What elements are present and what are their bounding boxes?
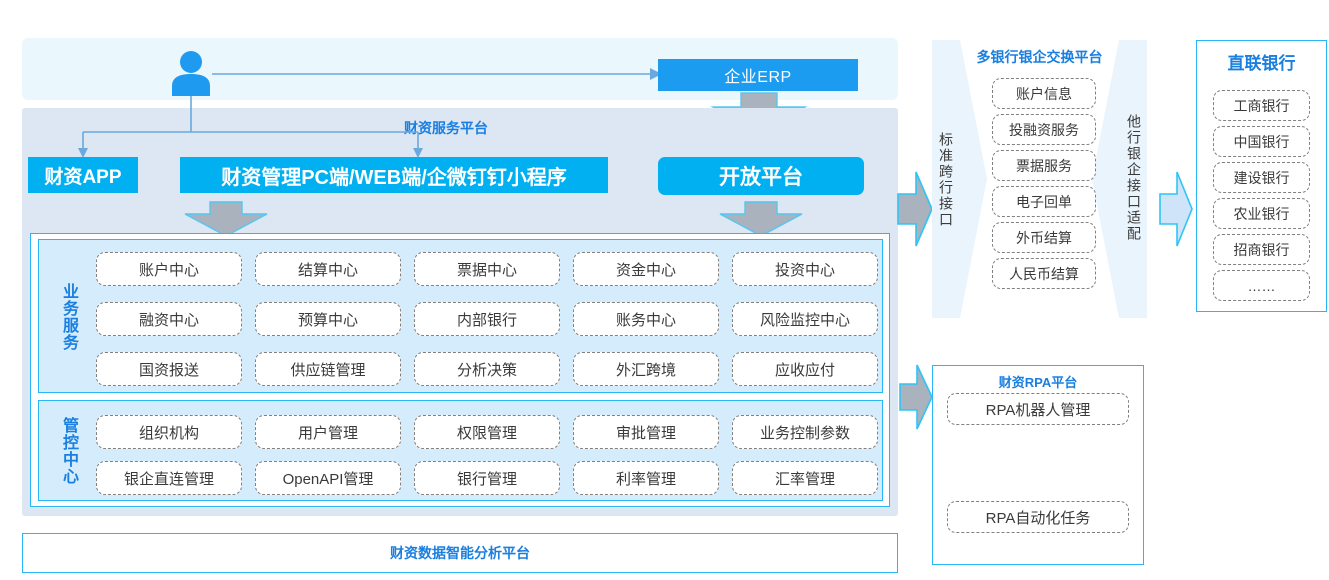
service-cell[interactable]: 国资报送 [96, 352, 242, 386]
user-icon [170, 50, 212, 96]
arrow-down-icon [185, 202, 267, 236]
treasury-pc-web-button[interactable]: 财资管理PC端/WEB端/企微钉钉小程序 [180, 157, 608, 193]
control-cell[interactable]: OpenAPI管理 [255, 461, 401, 495]
control-cell[interactable]: 组织机构 [96, 415, 242, 449]
service-cell[interactable]: 内部银行 [414, 302, 560, 336]
rpa-platform-title: 财资RPA平台 [932, 372, 1144, 391]
control-cell[interactable]: 审批管理 [573, 415, 719, 449]
bank-service-cell[interactable]: 外币结算 [992, 222, 1096, 253]
control-cell[interactable]: 利率管理 [573, 461, 719, 495]
bank-cell[interactable]: 农业银行 [1213, 198, 1310, 229]
service-cell[interactable]: 资金中心 [573, 252, 719, 286]
erp-label: 企业ERP [724, 63, 791, 87]
direct-banks-items: 工商银行 中国银行 建设银行 农业银行 招商银行 …… [1213, 90, 1310, 301]
control-cell[interactable]: 银企直连管理 [96, 461, 242, 495]
service-cell[interactable]: 账务中心 [573, 302, 719, 336]
control-cell[interactable]: 业务控制参数 [732, 415, 878, 449]
treasury-app-label: 财资APP [44, 162, 121, 189]
bank-cell[interactable]: 中国银行 [1213, 126, 1310, 157]
service-cell[interactable]: 供应链管理 [255, 352, 401, 386]
bank-service-cell[interactable]: 账户信息 [992, 78, 1096, 109]
business-services-grid: 账户中心 结算中心 票据中心 资金中心 投资中心 融资中心 预算中心 内部银行 … [96, 252, 878, 382]
arrow-right-icon [1160, 172, 1192, 246]
erp-box[interactable]: 企业ERP [658, 59, 858, 91]
service-cell[interactable]: 结算中心 [255, 252, 401, 286]
bank-exchange-items: 账户信息 投融资服务 票据服务 电子回单 外币结算 人民币结算 [992, 78, 1096, 289]
bank-cell[interactable]: 工商银行 [1213, 90, 1310, 121]
bank-cell-more[interactable]: …… [1213, 270, 1310, 301]
service-cell[interactable]: 票据中心 [414, 252, 560, 286]
arrow-right-icon [900, 365, 932, 429]
standard-interface-label: 标准跨行接口 [936, 100, 956, 260]
control-center-grid: 组织机构 用户管理 权限管理 审批管理 业务控制参数 银企直连管理 OpenAP… [96, 415, 878, 491]
service-cell[interactable]: 应收应付 [732, 352, 878, 386]
arrow-down-icon [720, 202, 802, 236]
rpa-robot-cell[interactable]: RPA机器人管理 [947, 393, 1129, 425]
bank-cell[interactable]: 招商银行 [1213, 234, 1310, 265]
service-cell[interactable]: 融资中心 [96, 302, 242, 336]
service-cell[interactable]: 投资中心 [732, 252, 878, 286]
rpa-task-cell[interactable]: RPA自动化任务 [947, 501, 1129, 533]
treasury-app-button[interactable]: 财资APP [28, 157, 138, 193]
service-cell[interactable]: 风险监控中心 [732, 302, 878, 336]
service-cell[interactable]: 外汇跨境 [573, 352, 719, 386]
analytics-platform-label: 财资数据智能分析平台 [390, 543, 530, 563]
control-center-label: 管控中心 [57, 410, 79, 492]
control-cell[interactable]: 汇率管理 [732, 461, 878, 495]
service-cell[interactable]: 分析决策 [414, 352, 560, 386]
connector-user-to-clients [78, 96, 428, 160]
bank-service-cell[interactable]: 电子回单 [992, 186, 1096, 217]
bank-service-cell[interactable]: 人民币结算 [992, 258, 1096, 289]
analytics-platform-bar[interactable]: 财资数据智能分析平台 [22, 533, 898, 573]
control-cell[interactable]: 银行管理 [414, 461, 560, 495]
control-cell[interactable]: 用户管理 [255, 415, 401, 449]
other-bank-adapter-label: 他行银企接口适配 [1124, 85, 1144, 270]
service-cell[interactable]: 预算中心 [255, 302, 401, 336]
bank-service-cell[interactable]: 票据服务 [992, 150, 1096, 181]
treasury-pc-web-label: 财资管理PC端/WEB端/企微钉钉小程序 [221, 161, 567, 190]
open-platform-label: 开放平台 [719, 161, 803, 191]
bank-cell[interactable]: 建设银行 [1213, 162, 1310, 193]
bank-exchange-title: 多银行银企交换平台 [932, 47, 1147, 67]
connector-user-to-erp [212, 66, 662, 82]
service-cell[interactable]: 账户中心 [96, 252, 242, 286]
direct-banks-title: 直联银行 [1196, 49, 1327, 74]
arrow-right-icon [898, 172, 932, 246]
open-platform-button[interactable]: 开放平台 [658, 157, 864, 195]
bank-service-cell[interactable]: 投融资服务 [992, 114, 1096, 145]
control-cell[interactable]: 权限管理 [414, 415, 560, 449]
business-services-label: 业务服务 [57, 254, 79, 380]
